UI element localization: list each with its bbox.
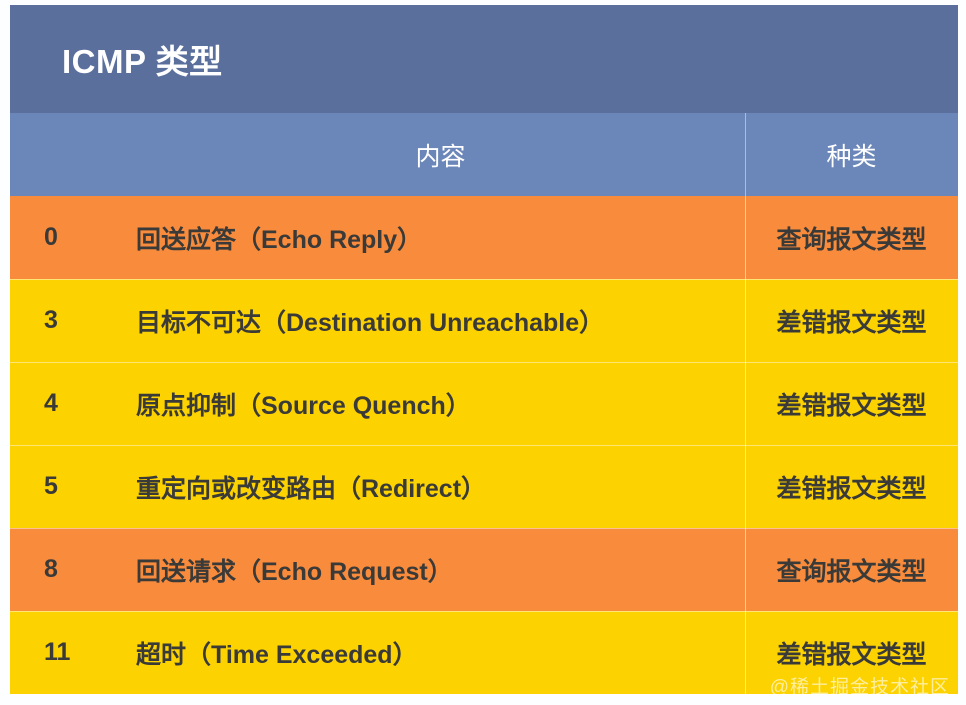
table-row: 4 原点抑制（Source Quench） 差错报文类型 xyxy=(10,362,958,445)
table-row: 0 回送应答（Echo Reply） 查询报文类型 xyxy=(10,196,958,279)
column-header-content: 内容 xyxy=(128,113,745,196)
cell-type-content: 目标不可达（Destination Unreachable） xyxy=(128,279,745,362)
cell-type-kind: 查询报文类型 xyxy=(745,528,958,611)
icmp-types-table: 内容 种类 0 回送应答（Echo Reply） 查询报文类型 3 目标不可达（… xyxy=(10,113,958,701)
table-row: 8 回送请求（Echo Request） 查询报文类型 xyxy=(10,528,958,611)
column-header-kind: 种类 xyxy=(745,113,958,196)
cell-type-content: 重定向或改变路由（Redirect） xyxy=(128,445,745,528)
cell-type-content: 回送应答（Echo Reply） xyxy=(128,196,745,279)
cell-type-number: 0 xyxy=(10,196,128,279)
icmp-type-table-page: ICMP 类型 内容 种类 0 回送应答（Echo Reply） 查询报文类型 … xyxy=(0,0,966,705)
title-banner: ICMP 类型 xyxy=(10,5,958,113)
table-row: 5 重定向或改变路由（Redirect） 差错报文类型 xyxy=(10,445,958,528)
cell-type-kind: 差错报文类型 xyxy=(745,445,958,528)
cell-type-number: 3 xyxy=(10,279,128,362)
cell-type-number: 4 xyxy=(10,362,128,445)
cell-type-kind: 差错报文类型 xyxy=(745,362,958,445)
cell-type-number: 8 xyxy=(10,528,128,611)
table-header-row: 内容 种类 xyxy=(10,113,958,196)
cell-type-content: 原点抑制（Source Quench） xyxy=(128,362,745,445)
table-row: 3 目标不可达（Destination Unreachable） 差错报文类型 xyxy=(10,279,958,362)
cell-type-content: 回送请求（Echo Request） xyxy=(128,528,745,611)
cell-type-kind: 查询报文类型 xyxy=(745,196,958,279)
cell-type-kind: 差错报文类型 xyxy=(745,611,958,694)
cell-type-kind: 差错报文类型 xyxy=(745,279,958,362)
column-header-number xyxy=(10,113,128,196)
cell-type-number: 5 xyxy=(10,445,128,528)
cell-type-number: 11 xyxy=(10,611,128,694)
page-title: ICMP 类型 xyxy=(10,35,223,83)
table-row: 11 超时（Time Exceeded） 差错报文类型 xyxy=(10,611,958,694)
cell-type-content: 超时（Time Exceeded） xyxy=(128,611,745,694)
